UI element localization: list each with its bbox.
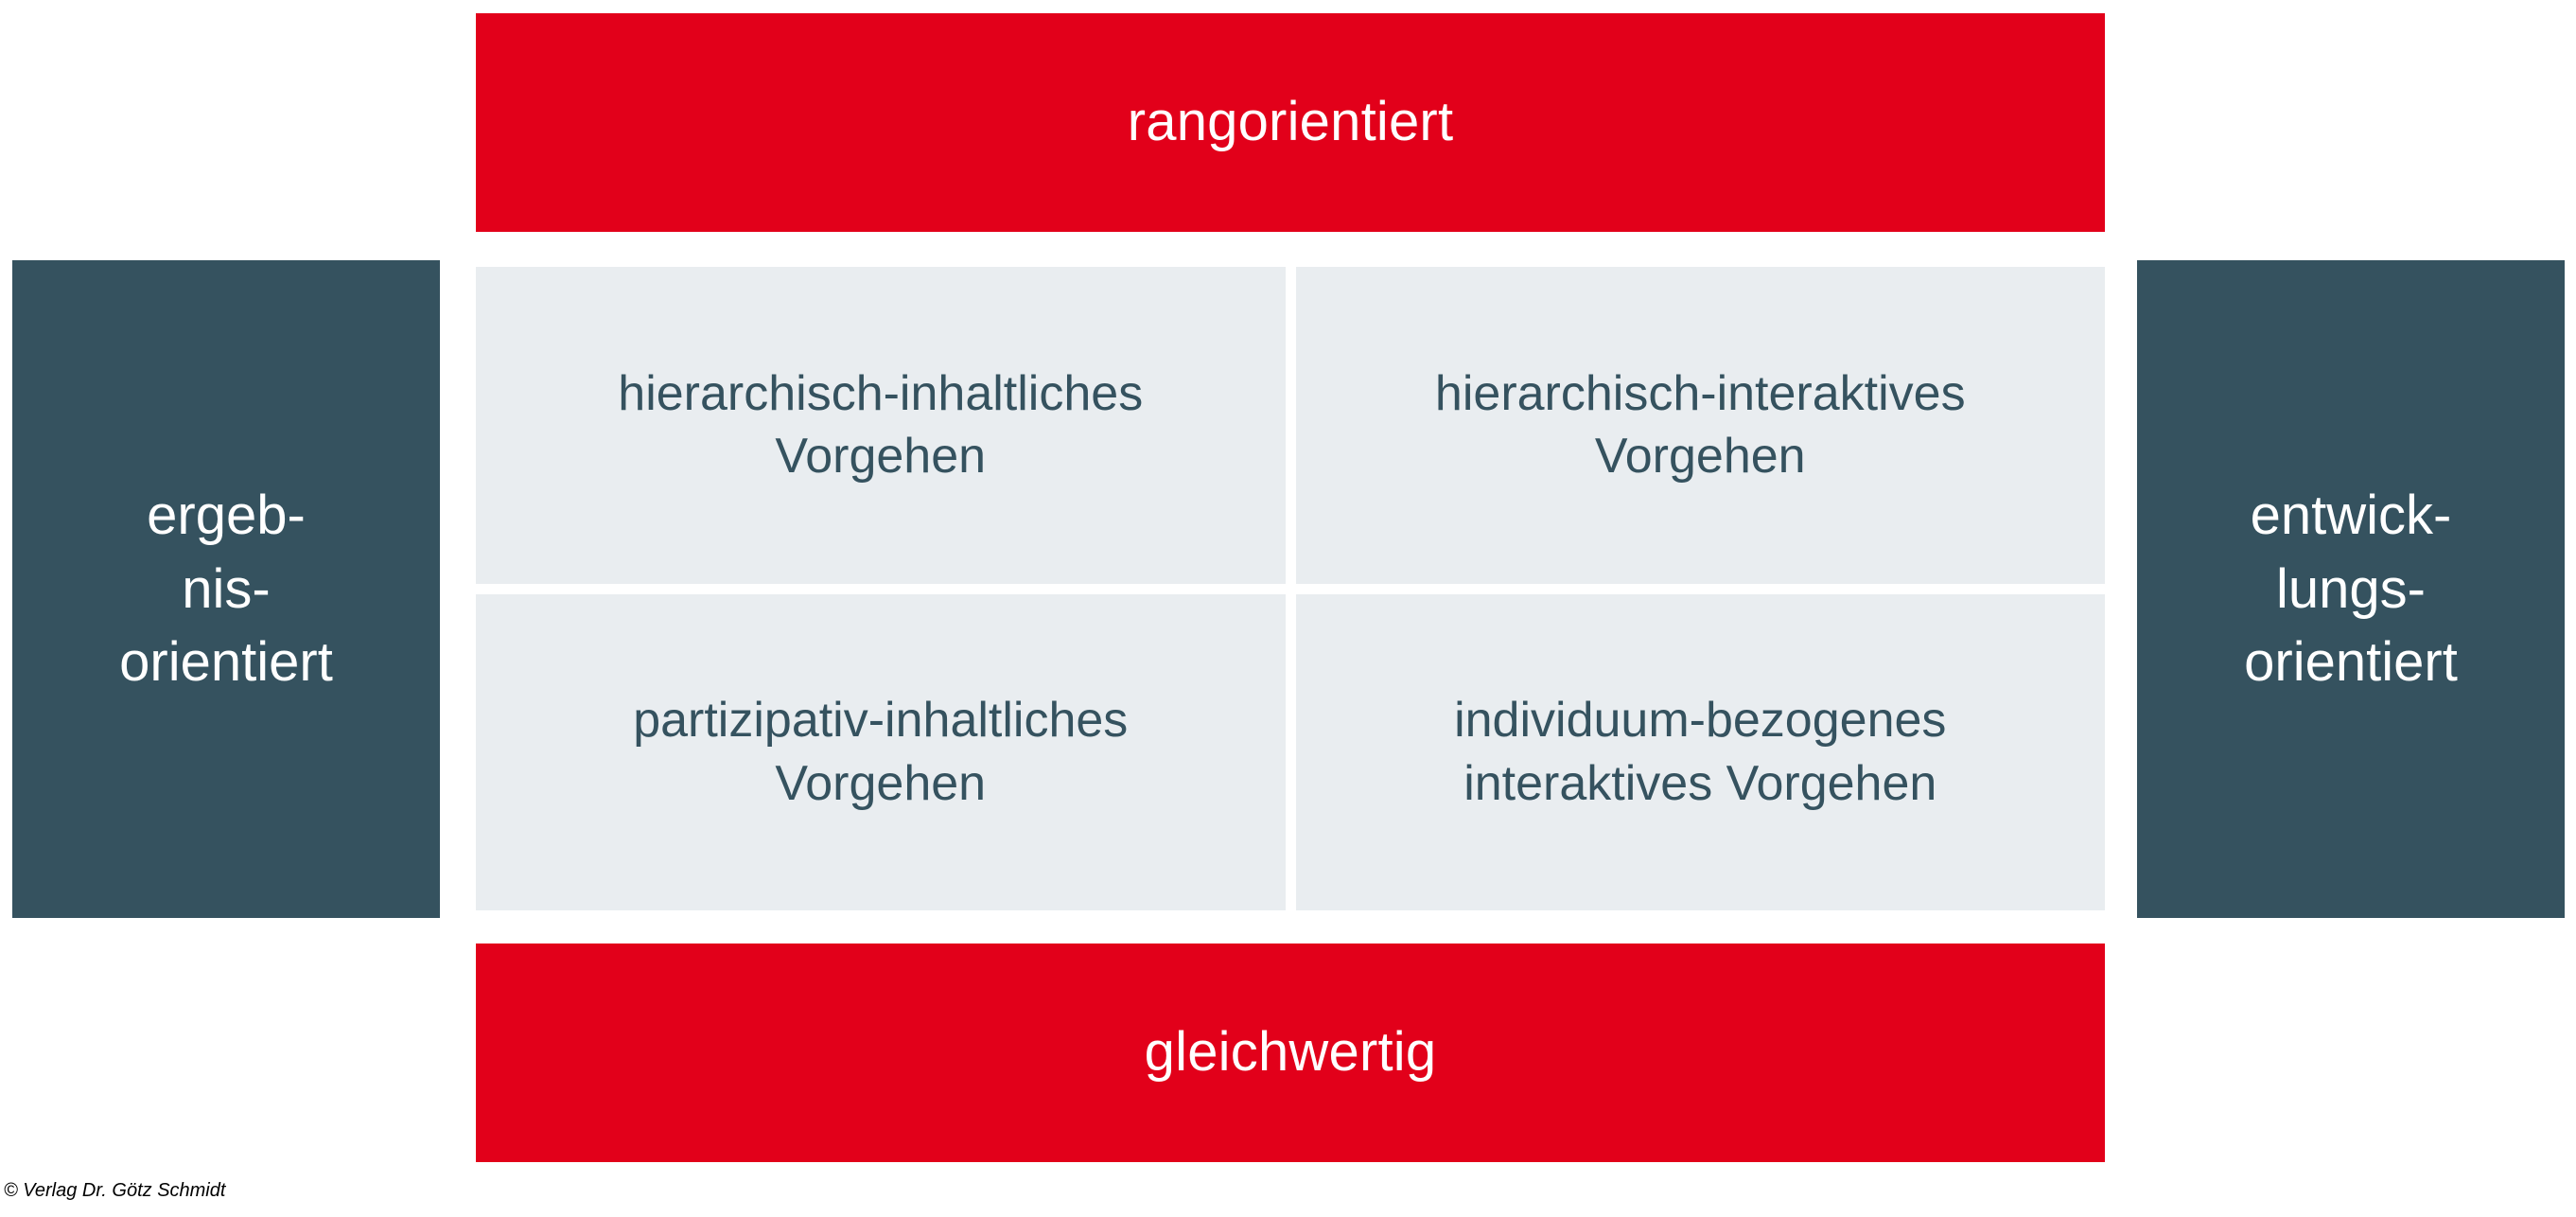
right-axis-label-line-2: lungs- — [2244, 553, 2458, 626]
top-axis-banner-rangorientiert: rangorientiert — [476, 13, 2105, 232]
left-axis-panel-ergebnisorientiert: ergeb- nis- orientiert — [12, 260, 440, 918]
quadrant-top-left-line-1: hierarchisch-inhaltliches — [618, 362, 1143, 426]
quadrant-top-right-line-2: Vorgehen — [1435, 425, 1966, 488]
quadrant-top-left-line-2: Vorgehen — [618, 425, 1143, 488]
right-axis-label: entwick- lungs- orientiert — [2244, 479, 2458, 699]
quadrant-top-left-label: hierarchisch-inhaltliches Vorgehen — [618, 362, 1143, 488]
top-axis-label: rangorientiert — [1128, 91, 1454, 154]
right-axis-label-line-1: entwick- — [2244, 479, 2458, 553]
quadrant-bottom-left-label: partizipativ-inhaltliches Vorgehen — [633, 689, 1128, 815]
diagram-canvas: rangorientiert ergeb- nis- orientiert hi… — [0, 0, 2576, 1217]
quadrant-bottom-right-line-2: interaktives Vorgehen — [1454, 752, 1946, 816]
quadrant-bottom-right-label: individuum-bezogenes interaktives Vorgeh… — [1454, 689, 1946, 815]
quadrant-top-right-line-1: hierarchisch-interaktives — [1435, 362, 1966, 426]
left-axis-label-line-3: orientiert — [119, 626, 333, 699]
quadrant-matrix: hierarchisch-inhaltliches Vorgehen hiera… — [476, 267, 2105, 910]
quadrant-bottom-left-line-1: partizipativ-inhaltliches — [633, 689, 1128, 752]
quadrant-top-right-label: hierarchisch-interaktives Vorgehen — [1435, 362, 1966, 488]
right-axis-panel-entwicklungsorientiert: entwick- lungs- orientiert — [2137, 260, 2565, 918]
quadrant-bottom-right-line-1: individuum-bezogenes — [1454, 689, 1946, 752]
right-axis-label-line-3: orientiert — [2244, 626, 2458, 699]
left-axis-label-line-2: nis- — [119, 553, 333, 626]
quadrant-bottom-left[interactable]: partizipativ-inhaltliches Vorgehen — [476, 594, 1286, 911]
left-axis-label: ergeb- nis- orientiert — [119, 479, 333, 699]
left-axis-label-line-1: ergeb- — [119, 479, 333, 553]
bottom-axis-banner-gleichwertig: gleichwertig — [476, 944, 2105, 1162]
quadrant-bottom-right[interactable]: individuum-bezogenes interaktives Vorgeh… — [1296, 594, 2106, 911]
bottom-axis-label: gleichwertig — [1145, 1021, 1437, 1085]
quadrant-top-right[interactable]: hierarchisch-interaktives Vorgehen — [1296, 267, 2106, 584]
quadrant-bottom-left-line-2: Vorgehen — [633, 752, 1128, 816]
copyright-notice: © Verlag Dr. Götz Schmidt — [4, 1180, 225, 1202]
quadrant-top-left[interactable]: hierarchisch-inhaltliches Vorgehen — [476, 267, 1286, 584]
